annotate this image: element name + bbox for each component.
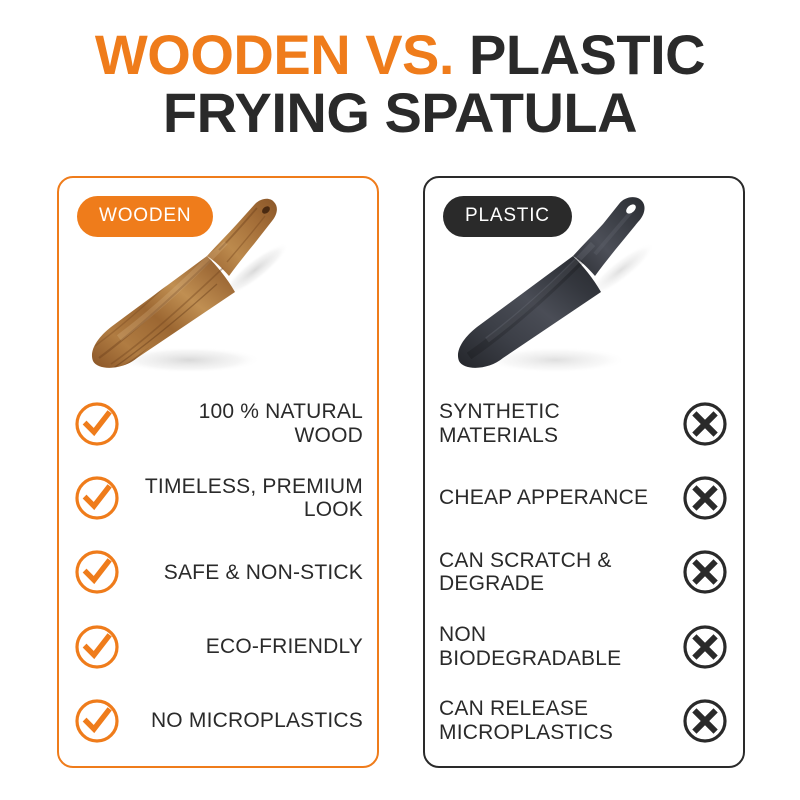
feature-row: NON BIODEGRADABLE (425, 616, 743, 678)
feature-label: CAN RELEASE MICROPLASTICS (439, 697, 667, 744)
plastic-feature-list: SYNTHETIC MATERIALS CHEAP APPERANCE (425, 383, 743, 766)
title-rest-text: PLASTIC (454, 23, 705, 86)
cross-circle-icon (681, 400, 729, 448)
feature-row: ECO-FRIENDLY (59, 616, 377, 678)
feature-row: CHEAP APPERANCE (425, 467, 743, 529)
cross-circle-icon (681, 474, 729, 522)
feature-row: TIMELESS, PREMIUM LOOK (59, 467, 377, 529)
feature-row: CAN RELEASE MICROPLASTICS (425, 690, 743, 752)
card-wooden: WOODEN (57, 176, 379, 768)
wooden-feature-list: 100 % NATURAL WOOD TIMELESS, PREMIUM LOO… (59, 383, 377, 766)
feature-label: SAFE & NON-STICK (135, 561, 363, 585)
feature-row: CAN SCRATCH & DEGRADE (425, 541, 743, 603)
feature-label: NO MICROPLASTICS (135, 709, 363, 733)
feature-label: 100 % NATURAL WOOD (135, 400, 363, 447)
feature-row: 100 % NATURAL WOOD (59, 393, 377, 455)
comparison-cards: WOODEN (57, 176, 745, 768)
title-line-1: WOODEN VS. PLASTIC (0, 26, 800, 84)
feature-row: SAFE & NON-STICK (59, 541, 377, 603)
cross-circle-icon (681, 548, 729, 596)
feature-label: TIMELESS, PREMIUM LOOK (135, 475, 363, 522)
feature-label: CAN SCRATCH & DEGRADE (439, 549, 667, 596)
check-circle-icon (73, 623, 121, 671)
check-circle-icon (73, 474, 121, 522)
cross-circle-icon (681, 697, 729, 745)
card-plastic: PLASTIC (423, 176, 745, 768)
feature-label: CHEAP APPERANCE (439, 486, 667, 510)
feature-label: SYNTHETIC MATERIALS (439, 400, 667, 447)
cross-circle-icon (681, 623, 729, 671)
infographic-page: WOODEN VS. PLASTIC FRYING SPATULA WOODEN (0, 0, 800, 800)
feature-row: NO MICROPLASTICS (59, 690, 377, 752)
title-accent-text: WOODEN VS. (95, 23, 454, 86)
page-title: WOODEN VS. PLASTIC FRYING SPATULA (0, 26, 800, 141)
feature-label: ECO-FRIENDLY (135, 635, 363, 659)
title-line-2: FRYING SPATULA (0, 84, 800, 142)
feature-label: NON BIODEGRADABLE (439, 623, 667, 670)
badge-wooden: WOODEN (77, 196, 213, 237)
check-circle-icon (73, 548, 121, 596)
feature-row: SYNTHETIC MATERIALS (425, 393, 743, 455)
check-circle-icon (73, 400, 121, 448)
check-circle-icon (73, 697, 121, 745)
badge-plastic: PLASTIC (443, 196, 572, 237)
